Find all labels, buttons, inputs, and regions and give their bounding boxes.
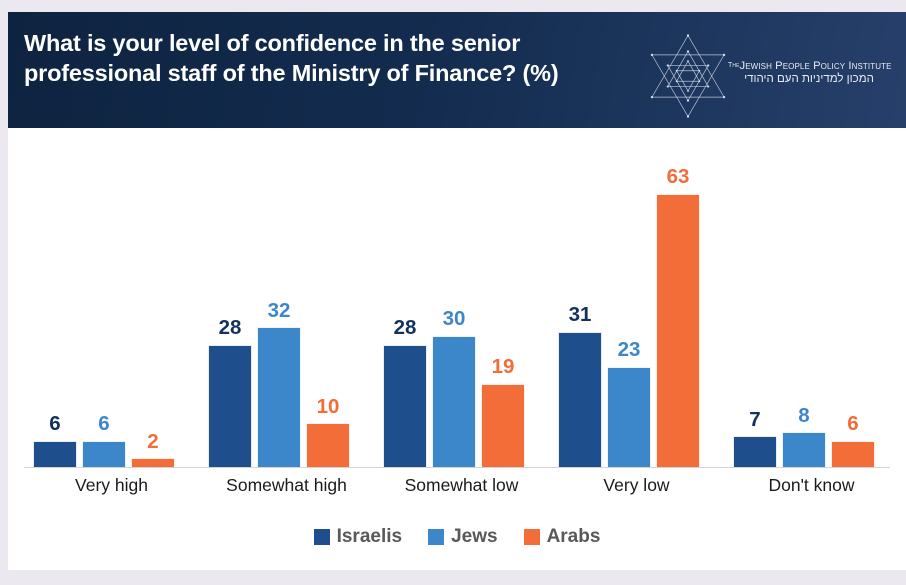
bar-jews-somewhat-low[interactable]: 30: [432, 167, 476, 467]
bar-value-label: 28: [219, 318, 242, 339]
bar-group: 283019Somewhat low: [374, 167, 549, 467]
bar-rect[interactable]: [782, 432, 826, 467]
bar-group-bars: 662: [24, 167, 199, 467]
legend-label: Jews: [451, 526, 497, 548]
legend-label: Israelis: [337, 526, 403, 548]
page-title: What is your level of confidence in the …: [24, 28, 614, 88]
bar-value-label: 31: [569, 305, 592, 326]
bar-jews-very-high[interactable]: 6: [82, 167, 126, 467]
bar-value-label: 10: [317, 397, 340, 418]
bar-arabs-very-high[interactable]: 2: [131, 167, 175, 467]
bar-rect[interactable]: [257, 327, 301, 467]
bar-value-label: 28: [394, 318, 417, 339]
bar-arabs-somewhat-low[interactable]: 19: [481, 167, 525, 467]
bar-rect[interactable]: [656, 194, 700, 468]
legend-color-swatch: [314, 529, 330, 545]
star-of-david-icon: [644, 32, 732, 120]
bar-arabs-don-t-know[interactable]: 6: [831, 167, 875, 467]
bar-group: 786Don't know: [724, 167, 899, 467]
bar-israelis-very-low[interactable]: 31: [558, 167, 602, 467]
bar-group-bars: 283210: [199, 167, 374, 467]
x-axis-category-label: Somewhat low: [374, 475, 549, 496]
slide: What is your level of confidence in the …: [8, 12, 906, 570]
bar-jews-very-low[interactable]: 23: [607, 167, 651, 467]
legend-color-swatch: [524, 529, 540, 545]
logo-name-lead: the: [728, 62, 740, 69]
x-axis-category-label: Very high: [24, 475, 199, 496]
bar-israelis-somewhat-high[interactable]: 28: [208, 167, 252, 467]
bar-jews-somewhat-high[interactable]: 32: [257, 167, 301, 467]
x-axis-line: [24, 467, 890, 468]
bar-israelis-somewhat-low[interactable]: 28: [383, 167, 427, 467]
bar-value-label: 30: [443, 309, 466, 330]
bar-group-bars: 786: [724, 167, 899, 467]
bar-value-label: 8: [798, 406, 809, 427]
bar-value-label: 2: [147, 432, 158, 453]
logo-institute-name: theJewish People Policy Institute: [728, 60, 894, 72]
bar-value-label: 19: [492, 357, 515, 378]
bar-value-label: 32: [268, 301, 291, 322]
bar-value-label: 7: [749, 410, 760, 431]
bar-group-bars: 283019: [374, 167, 549, 467]
legend-item-arabs[interactable]: Arabs: [524, 526, 601, 548]
logo-text-block: theJewish People Policy Institute המכון …: [728, 60, 894, 85]
chart-header-banner: What is your level of confidence in the …: [8, 12, 906, 128]
bar-rect[interactable]: [733, 436, 777, 467]
bar-jews-don-t-know[interactable]: 8: [782, 167, 826, 467]
x-axis-category-label: Somewhat high: [199, 475, 374, 496]
bar-rect[interactable]: [432, 336, 476, 467]
jppi-logo: theJewish People Policy Institute המכון …: [644, 32, 894, 112]
bar-arabs-somewhat-high[interactable]: 10: [306, 167, 350, 467]
legend-item-jews[interactable]: Jews: [428, 526, 497, 548]
bar-rect[interactable]: [208, 345, 252, 467]
bar-value-label: 6: [98, 414, 109, 435]
bar-group: 312363Very low: [549, 167, 724, 467]
bar-value-label: 63: [667, 167, 690, 188]
bar-rect[interactable]: [831, 441, 875, 467]
bar-rect[interactable]: [131, 458, 175, 467]
bar-rect[interactable]: [383, 345, 427, 467]
legend-color-swatch: [428, 529, 444, 545]
bar-chart-plot-area: 662Very high283210Somewhat high283019Som…: [8, 128, 906, 570]
bar-rect[interactable]: [607, 367, 651, 468]
logo-name-main: Jewish People Policy Institute: [740, 60, 892, 72]
bar-group: 662Very high: [24, 167, 199, 467]
bar-rect[interactable]: [33, 441, 77, 467]
bar-group-bars: 312363: [549, 167, 724, 467]
bar-israelis-don-t-know[interactable]: 7: [733, 167, 777, 467]
bar-rect[interactable]: [558, 332, 602, 467]
chart-legend: IsraelisJewsArabs: [8, 526, 906, 548]
legend-item-israelis[interactable]: Israelis: [314, 526, 403, 548]
x-axis-category-label: Don't know: [724, 475, 899, 496]
legend-label: Arabs: [547, 526, 601, 548]
logo-institute-name-hebrew: המכון למדיניות העם היהודי: [728, 73, 894, 85]
bar-value-label: 23: [618, 340, 641, 361]
bar-value-label: 6: [847, 414, 858, 435]
bar-rect[interactable]: [306, 423, 350, 467]
x-axis-category-label: Very low: [549, 475, 724, 496]
bar-value-label: 6: [49, 414, 60, 435]
bar-arabs-very-low[interactable]: 63: [656, 167, 700, 467]
bar-rect[interactable]: [82, 441, 126, 467]
bar-rect[interactable]: [481, 384, 525, 467]
bar-israelis-very-high[interactable]: 6: [33, 167, 77, 467]
bar-group: 283210Somewhat high: [199, 167, 374, 467]
